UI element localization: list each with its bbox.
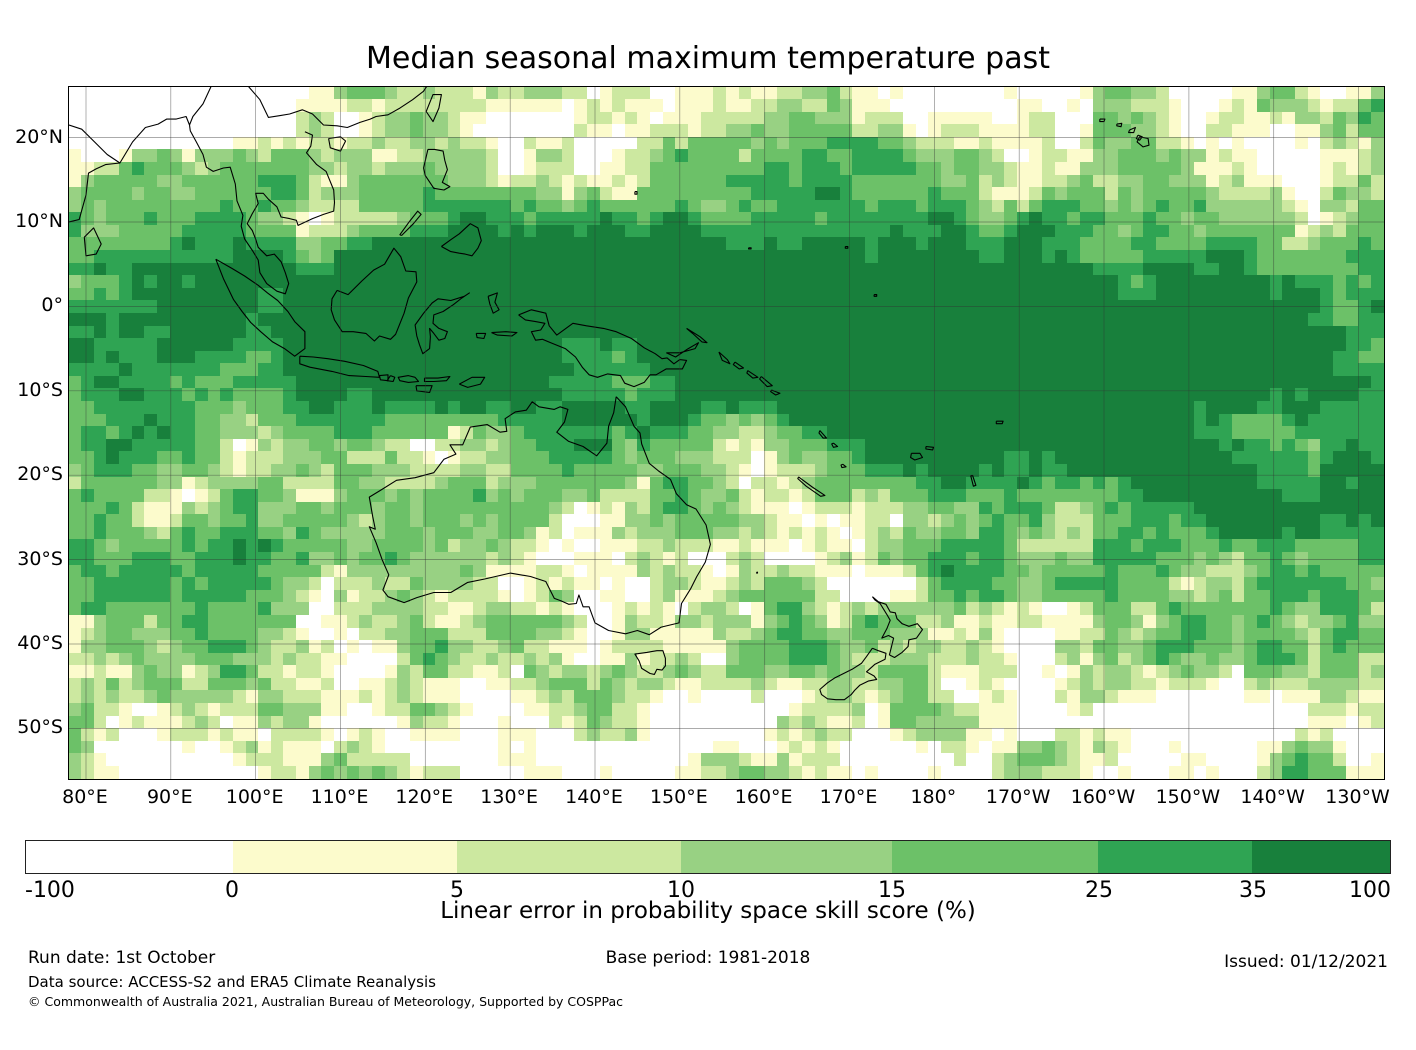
- x-tick-label: 110°E: [311, 786, 369, 808]
- x-tick-label: 170°E: [820, 786, 878, 808]
- colorbar-segment: [233, 841, 458, 873]
- footer-base-period: Base period: 1981-2018: [0, 948, 1416, 968]
- y-tick-label: 20°S: [17, 463, 63, 485]
- colorbar-segment: [457, 841, 681, 873]
- x-tick-label: 140°E: [565, 786, 623, 808]
- colorbar-segment: [892, 841, 1099, 873]
- footer-issued-date: Issued: 01/12/2021: [1224, 952, 1388, 972]
- y-tick-label: 0°: [41, 294, 63, 316]
- colorbar-container: -1000510152535100: [25, 840, 1391, 874]
- x-tick-label: 170°W: [986, 786, 1051, 808]
- figure-footer: Run date: 1st October Base period: 1981-…: [0, 948, 1416, 1048]
- x-tick-label: 130°E: [480, 786, 538, 808]
- graticule-gridlines: [69, 87, 1384, 779]
- colorbar-segment: [1098, 841, 1252, 873]
- colorbar: [25, 840, 1391, 874]
- colorbar-segment: [26, 841, 233, 873]
- x-tick-label: 120°E: [395, 786, 453, 808]
- footer-data-source: Data source: ACCESS-S2 and ERA5 Climate …: [28, 973, 436, 991]
- colorbar-segment: [681, 841, 892, 873]
- map-plot-area: [68, 86, 1385, 780]
- x-tick-label: 160°E: [735, 786, 793, 808]
- x-tick-label: 150°W: [1156, 786, 1221, 808]
- y-tick-label: 30°S: [17, 548, 63, 570]
- y-tick-label: 10°S: [17, 379, 63, 401]
- y-tick-label: 40°S: [17, 632, 63, 654]
- colorbar-axis-label: Linear error in probability space skill …: [0, 898, 1416, 924]
- figure-title-line-1: Median seasonal maximum temperature past: [0, 40, 1416, 78]
- colorbar-segment: [1252, 841, 1390, 873]
- x-tick-label: 100°E: [226, 786, 284, 808]
- x-tick-label: 160°W: [1071, 786, 1136, 808]
- x-tick-label: 180°: [910, 786, 956, 808]
- x-tick-label: 140°W: [1240, 786, 1305, 808]
- y-tick-label: 10°N: [15, 210, 63, 232]
- x-tick-label: 90°E: [147, 786, 193, 808]
- footer-copyright: © Commonwealth of Australia 2021, Austra…: [28, 994, 623, 1009]
- y-tick-label: 50°S: [17, 716, 63, 738]
- x-tick-label: 150°E: [650, 786, 708, 808]
- x-tick-label: 130°W: [1325, 786, 1390, 808]
- y-tick-label: 20°N: [15, 126, 63, 148]
- x-tick-label: 80°E: [62, 786, 108, 808]
